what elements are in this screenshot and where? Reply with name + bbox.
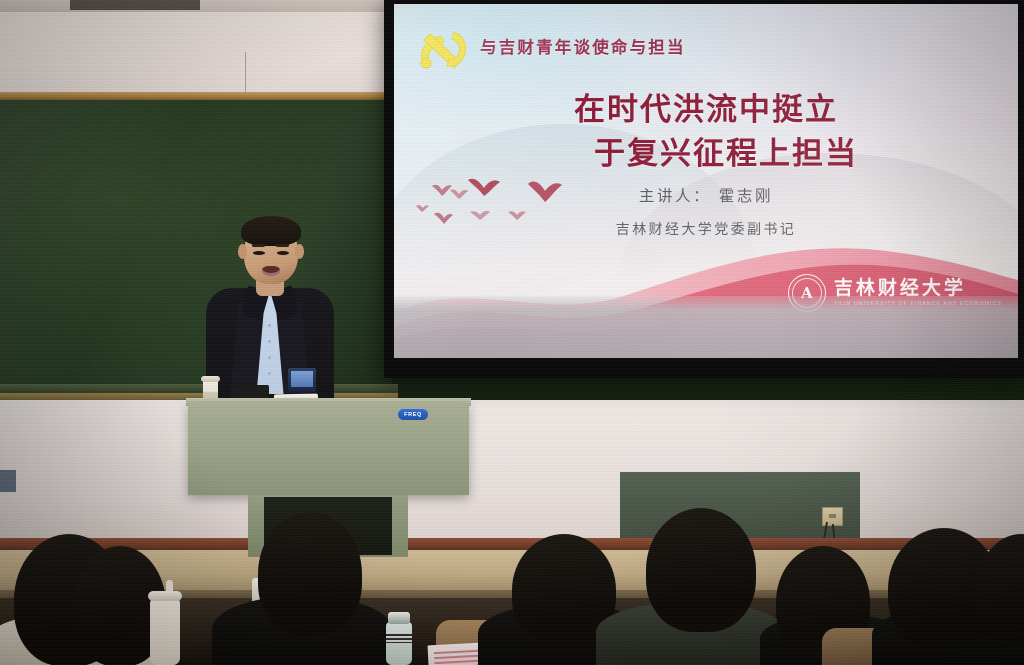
- upper-wall: [0, 0, 420, 98]
- podium-control-device: [235, 385, 269, 398]
- ceiling-fixture: [70, 0, 200, 10]
- student-head-4: [646, 508, 756, 632]
- slide-kicker: 与吉财青年谈使命与担当: [480, 34, 686, 58]
- paper-cup-lid: [201, 376, 220, 382]
- podium-brand-badge: FREQ: [398, 409, 428, 420]
- seal-glyph: А: [801, 286, 813, 301]
- slide-title: 在时代洪流中挺立 于复兴征程上担当: [394, 88, 1018, 176]
- slide-title-line1: 在时代洪流中挺立: [574, 92, 838, 128]
- presenter-hair: [241, 216, 301, 246]
- water-bottle: [386, 622, 412, 665]
- tumbler-lid: [148, 591, 182, 601]
- tumbler: [150, 598, 180, 665]
- left-wall-panel: [0, 470, 16, 492]
- presenter-mouth: [262, 266, 280, 276]
- slide-university-logo: А 吉林财经大学 JILIN UNIVERSITY OF FINANCE AND…: [788, 274, 1002, 312]
- presenter-eye-right: [277, 251, 289, 255]
- presenter-brow-left: [252, 244, 265, 247]
- university-seal-icon: А: [788, 274, 826, 312]
- slide-logo-name-en: JILIN UNIVERSITY OF FINANCE AND ECONOMIC…: [834, 301, 1002, 307]
- podium-brand-text: FREQ: [404, 412, 422, 418]
- presenter-shirt-buttons: [268, 324, 271, 327]
- slide-logo-name-cn: 吉林财经大学: [834, 279, 1002, 299]
- slide-title-line2: 于复兴征程上担当: [394, 132, 1018, 176]
- laptop-screen: [291, 371, 313, 387]
- presenter: [204, 216, 336, 416]
- student-head-2: [258, 512, 362, 636]
- wall-seam: [245, 52, 246, 94]
- lecture-hall-photo: 与吉财青年谈使命与担当 在时代洪流中挺立 于复兴征程上担当 主讲人： 霍志刚 吉…: [0, 0, 1024, 665]
- water-bottle-cap: [388, 612, 410, 624]
- presenter-eye-left: [253, 251, 265, 255]
- presenter-ear-left: [238, 244, 247, 259]
- party-emblem-icon: [414, 26, 472, 76]
- lower-wall-shading: [0, 400, 1024, 542]
- ceiling-strip: [0, 0, 420, 12]
- presenter-ear-right: [295, 244, 304, 259]
- projection-screen: 与吉财青年谈使命与担当 在时代洪流中挺立 于复兴征程上担当 主讲人： 霍志刚 吉…: [394, 4, 1018, 358]
- presenter-brow-right: [276, 244, 289, 247]
- water-bottle-label: [386, 634, 412, 643]
